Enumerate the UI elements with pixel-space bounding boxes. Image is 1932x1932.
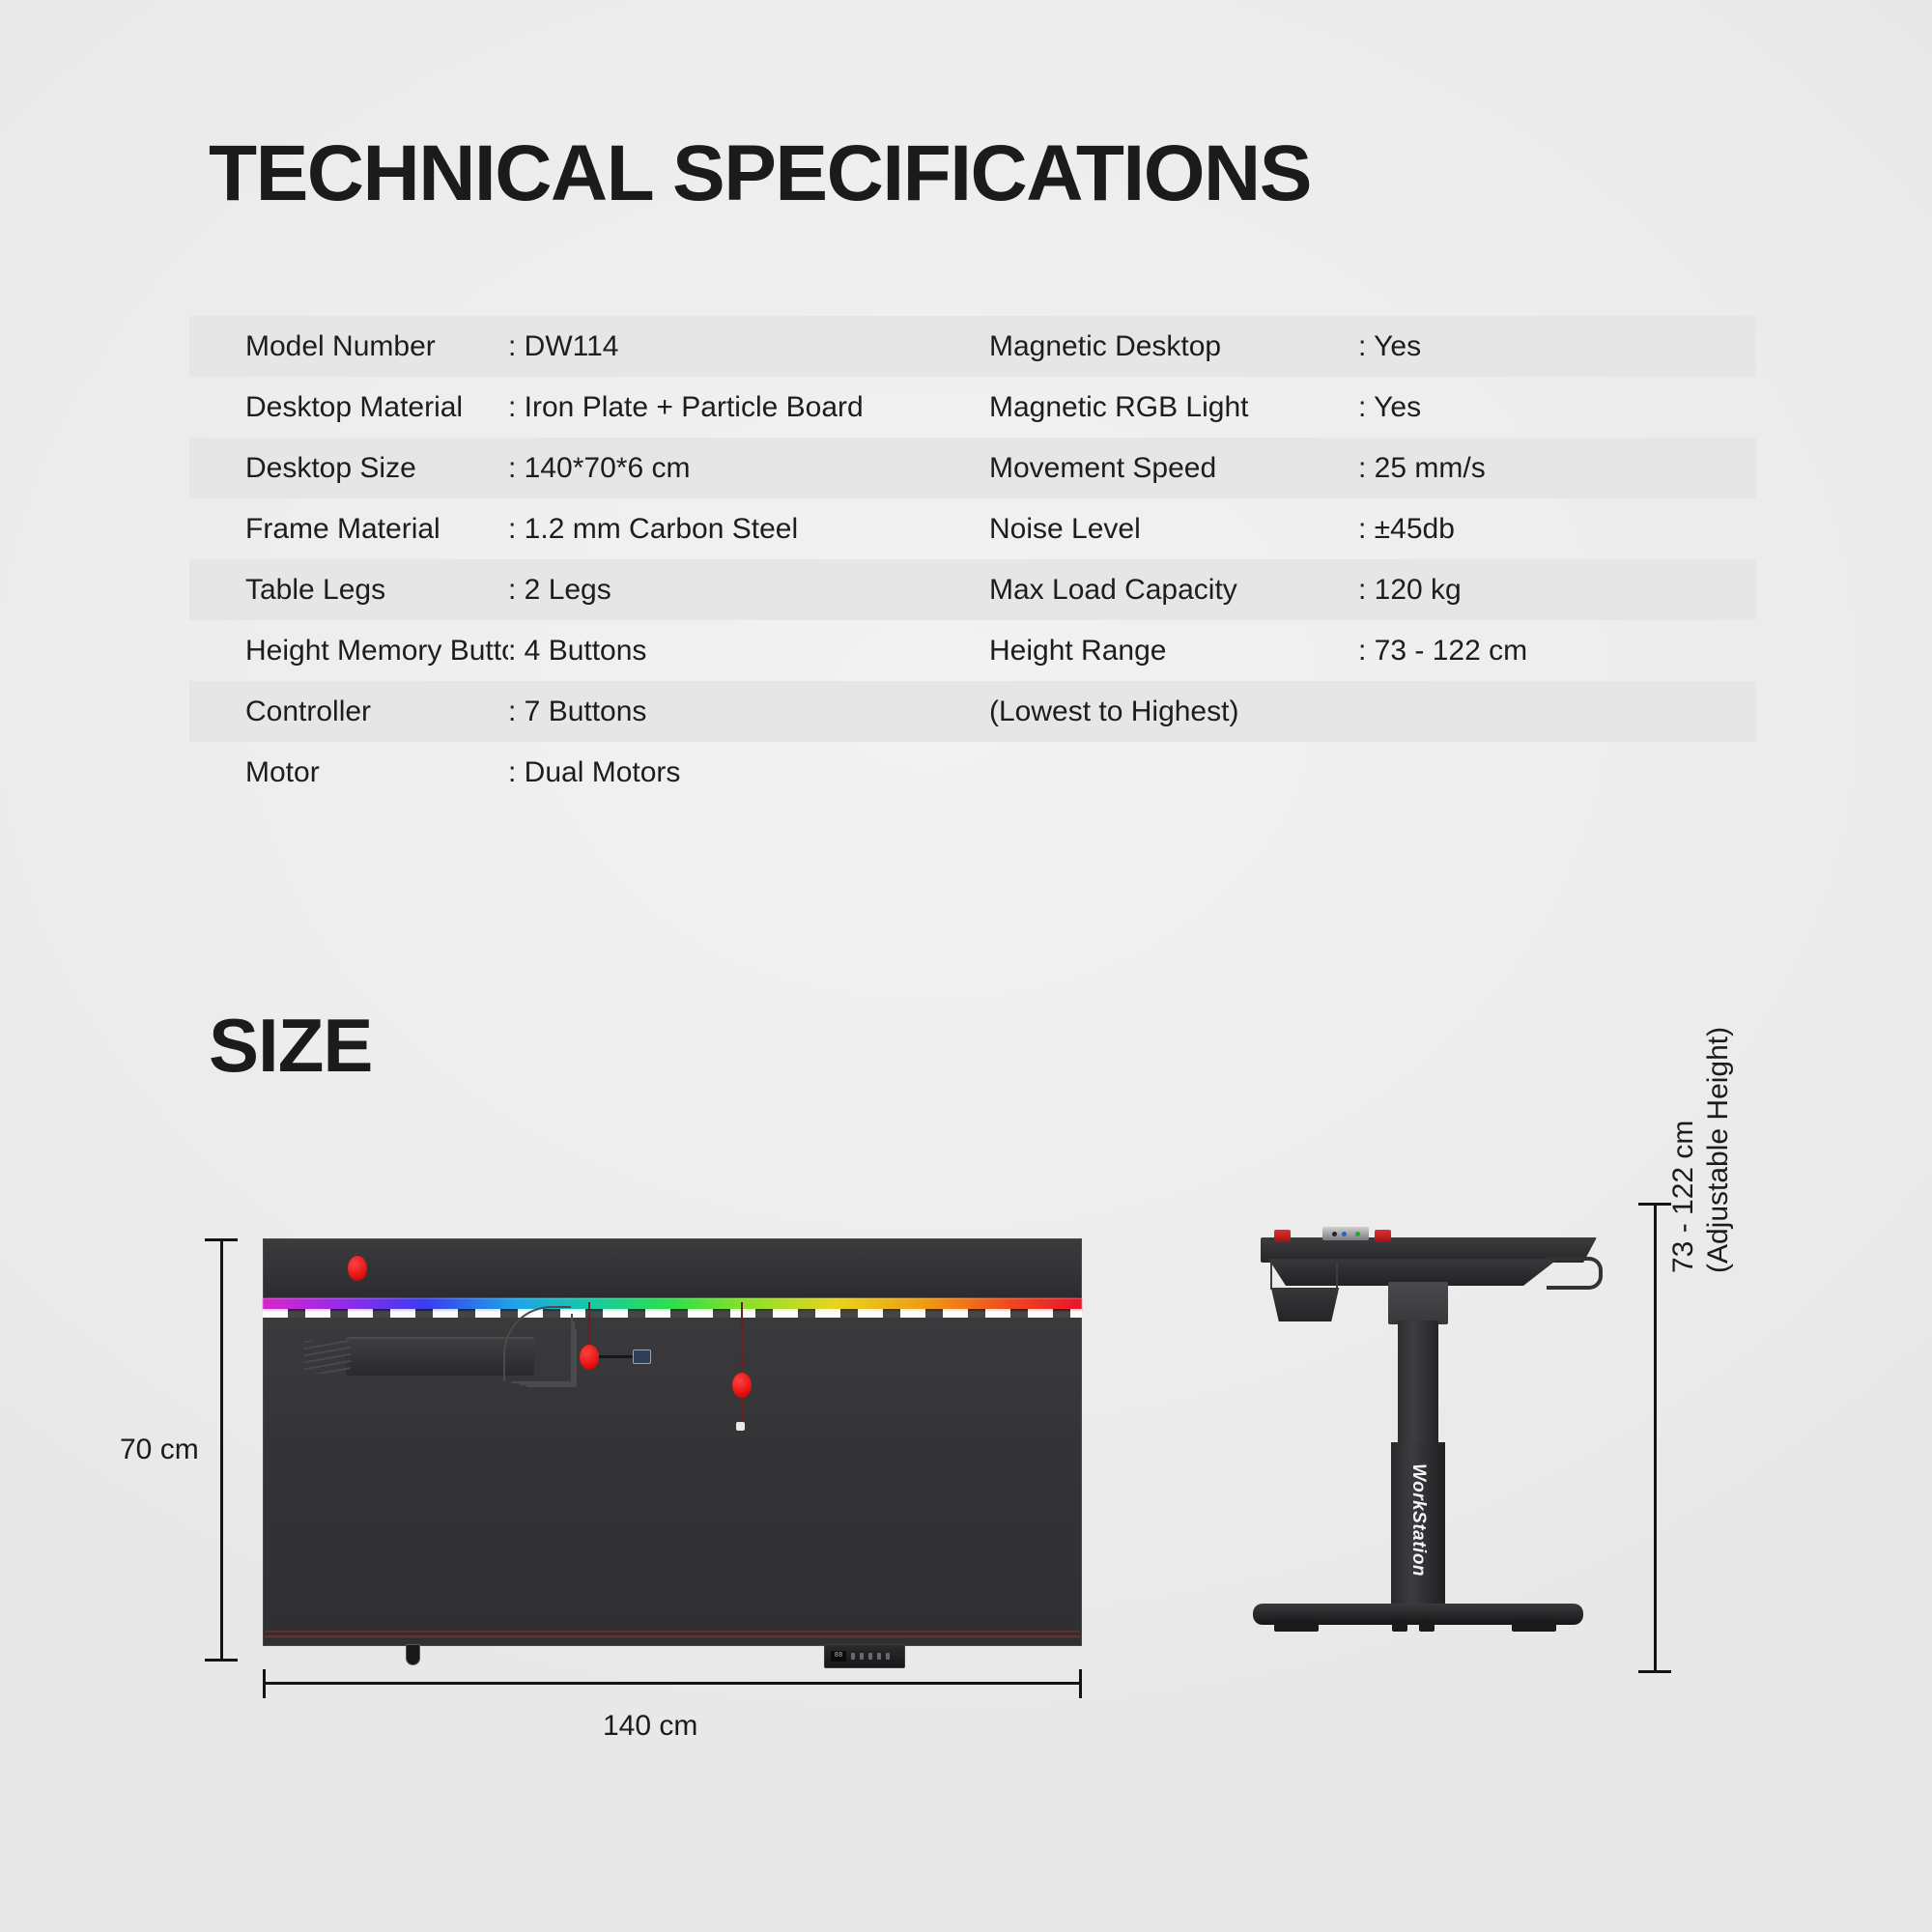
- adjustable-height-label: 73 - 122 cm: [1667, 1121, 1700, 1273]
- adjustable-height-label-group: (Adjustable Height) 73 - 122 cm: [1667, 945, 1735, 1273]
- controller-button[interactable]: [860, 1653, 864, 1660]
- spec-value-left: : 7 Buttons: [508, 696, 962, 728]
- spec-label-left: Desktop Size: [189, 452, 508, 485]
- usb-plug-icon: [633, 1350, 651, 1364]
- height-dimension-label: 70 cm: [120, 1434, 199, 1466]
- height-dimension-cap-top: [205, 1238, 238, 1241]
- spec-label-left: Desktop Material: [189, 391, 508, 424]
- size-figures: 88 70 cm 140 cm: [0, 0, 1932, 1932]
- leg-column-upper: [1398, 1321, 1438, 1444]
- table-row: Table Legs: 2 LegsMax Load Capacity: 120…: [189, 559, 1756, 620]
- table-row: Frame Material: 1.2 mm Carbon SteelNoise…: [189, 498, 1756, 559]
- height-dimension-line: [220, 1238, 223, 1662]
- usb-wire: [599, 1355, 634, 1358]
- adjustable-height-cap-top: [1638, 1203, 1671, 1206]
- spec-value-left: : Dual Motors: [508, 756, 962, 789]
- leg-brand-label: WorkStation: [1407, 1463, 1429, 1577]
- width-dimension-cap-right: [1079, 1669, 1082, 1698]
- width-dimension-cap-left: [263, 1669, 266, 1698]
- hang-dot-hook: [732, 1373, 752, 1398]
- hang-line-usb: [588, 1302, 590, 1349]
- spec-value-left: : 2 Legs: [508, 574, 962, 607]
- product-spec-page: TECHNICAL SPECIFICATIONS Model Number: D…: [0, 0, 1932, 1932]
- spec-value-right: : Yes: [1358, 391, 1756, 424]
- rgb-diffuser: [263, 1309, 1082, 1318]
- table-row: Model Number: DW114Magnetic Desktop: Yes: [189, 316, 1756, 377]
- section-title-size: SIZE: [209, 1002, 372, 1090]
- spec-value-right: : ±45db: [1358, 513, 1756, 546]
- page-title-specifications: TECHNICAL SPECIFICATIONS: [209, 128, 1311, 219]
- desk-controller-panel[interactable]: 88: [824, 1644, 905, 1668]
- controller-button[interactable]: [886, 1653, 890, 1660]
- spec-label-right: Height Range: [962, 635, 1358, 668]
- spec-label-left: Model Number: [189, 330, 508, 363]
- storage-basket: [1266, 1288, 1344, 1321]
- desk-front-panel: 88: [263, 1318, 1082, 1646]
- spec-label-right: Magnetic Desktop: [962, 330, 1358, 363]
- spec-value-left: : 4 Buttons: [508, 635, 962, 668]
- desk-side-view-illustration: WorkStation: [1239, 1203, 1622, 1673]
- spec-value-left: : 140*70*6 cm: [508, 452, 962, 485]
- headphone-hook: [1547, 1257, 1603, 1290]
- hang-line-hook: [741, 1302, 743, 1376]
- hang-dot-usb: [580, 1345, 599, 1370]
- spec-value-left: : Iron Plate + Particle Board: [508, 391, 962, 424]
- desk-front-view-illustration: 88: [263, 1238, 1082, 1662]
- adjustable-height-sublabel: (Adjustable Height): [1702, 1027, 1735, 1273]
- spec-label-right: Movement Speed: [962, 452, 1358, 485]
- cup-holder-left: [1274, 1230, 1291, 1242]
- spec-label-right: (Lowest to Highest): [962, 696, 1358, 728]
- height-dimension-cap-bottom: [205, 1659, 238, 1662]
- adjustable-height-cap-bottom: [1638, 1670, 1671, 1673]
- spec-label-left: Table Legs: [189, 574, 508, 607]
- foot-leveler-center-right: [1419, 1620, 1435, 1632]
- spec-value-left: : 1.2 mm Carbon Steel: [508, 513, 962, 546]
- spec-value-right: : 25 mm/s: [1358, 452, 1756, 485]
- controller-display: 88: [831, 1651, 846, 1662]
- table-row: Controller: 7 Buttons(Lowest to Highest): [189, 681, 1756, 742]
- spec-label-right: Noise Level: [962, 513, 1358, 546]
- width-dimension-label: 140 cm: [603, 1710, 697, 1743]
- table-row: Desktop Material: Iron Plate + Particle …: [189, 377, 1756, 438]
- foot-leveler-left: [1274, 1620, 1319, 1632]
- cup-holder-right: [1375, 1230, 1391, 1242]
- leg-brand-logo: WorkStation: [1391, 1456, 1445, 1610]
- leg-collar: [1388, 1282, 1448, 1324]
- spec-label-right: Magnetic RGB Light: [962, 391, 1358, 424]
- table-row: Height Memory Button: 4 ButtonsHeight Ra…: [189, 620, 1756, 681]
- spec-label-left: Frame Material: [189, 513, 508, 546]
- pod-indicator-dark: [1332, 1232, 1337, 1236]
- spec-value-right: : 120 kg: [1358, 574, 1756, 607]
- controller-button[interactable]: [868, 1653, 872, 1660]
- desktop-marker-dot: [348, 1256, 367, 1281]
- table-row: Motor: Dual Motors: [189, 742, 1756, 803]
- adjustable-height-dimension-line: [1654, 1203, 1657, 1673]
- hang-line-hook-lower: [741, 1398, 743, 1425]
- spec-value-right: : 73 - 122 cm: [1358, 635, 1756, 668]
- hook-end-cap: [736, 1422, 745, 1431]
- controller-button[interactable]: [877, 1653, 881, 1660]
- table-row: Desktop Size: 140*70*6 cmMovement Speed:…: [189, 438, 1756, 498]
- foot-leveler-right: [1512, 1620, 1556, 1632]
- controller-button[interactable]: [851, 1653, 855, 1660]
- spec-value-left: : DW114: [508, 330, 962, 363]
- spec-label-left: Height Memory Button: [189, 635, 508, 668]
- pod-indicator-blue: [1342, 1232, 1347, 1236]
- specifications-table: Model Number: DW114Magnetic Desktop: Yes…: [189, 316, 1756, 803]
- foot-leveler-center-left: [1392, 1620, 1407, 1632]
- width-dimension-line: [263, 1682, 1082, 1685]
- pod-indicator-green: [1355, 1232, 1360, 1236]
- spec-value-right: : Yes: [1358, 330, 1756, 363]
- spec-label-left: Controller: [189, 696, 508, 728]
- cable-lines: [304, 1341, 351, 1374]
- cable-grommet: [406, 1644, 420, 1665]
- cable-curve: [503, 1306, 571, 1381]
- desktop-surface: [263, 1238, 1082, 1298]
- spec-label-left: Motor: [189, 756, 508, 789]
- basket-arm-right: [1336, 1263, 1338, 1290]
- basket-arm-left: [1270, 1263, 1272, 1290]
- spec-label-right: Max Load Capacity: [962, 574, 1358, 607]
